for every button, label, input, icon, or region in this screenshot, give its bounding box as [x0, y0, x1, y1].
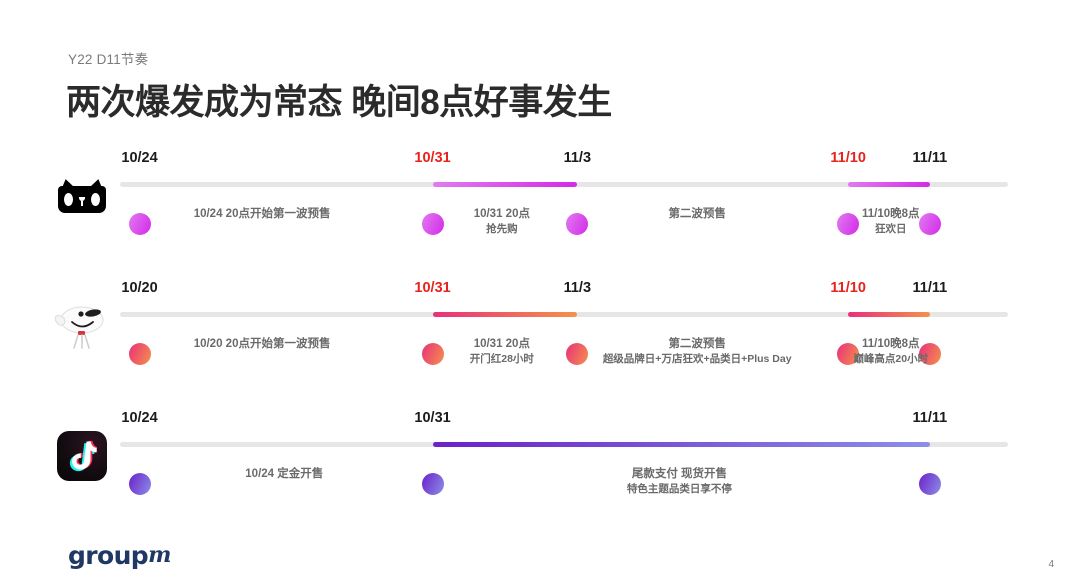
timeline-segment: [848, 182, 930, 187]
timeline-caption: 10/24 定金开售: [245, 466, 323, 482]
timeline-track-jd: [120, 312, 1008, 317]
timeline-date-label: 11/3: [564, 150, 591, 166]
timeline-dot[interactable]: [919, 213, 941, 235]
slide-root: Y22 D11节奏 两次爆发成为常态 晚间8点好事发生 10/2410/3111…: [0, 0, 1080, 582]
platform-logo-tmall: [44, 162, 120, 230]
timeline-dot[interactable]: [422, 343, 444, 365]
timeline-dot[interactable]: [919, 473, 941, 495]
timeline-date-label: 11/3: [564, 280, 591, 296]
timeline-caption: 11/10晚8点狂欢日: [862, 206, 920, 237]
timeline-dot[interactable]: [129, 473, 151, 495]
timeline-date-label: 11/11: [913, 150, 948, 166]
timeline-date-label: 11/10: [830, 280, 866, 296]
timeline-caption: 第二波预售超级品牌日+万店狂欢+品类日+Plus Day: [603, 336, 792, 367]
timeline-date-label: 10/31: [414, 280, 450, 296]
timeline-dot[interactable]: [129, 213, 151, 235]
timeline-dot[interactable]: [837, 213, 859, 235]
timeline-date-label: 10/24: [121, 150, 157, 166]
platform-logo-jd: [44, 292, 120, 360]
timeline-caption: 10/31 20点开门红28小时: [470, 336, 534, 367]
groupm-logo: groupm: [68, 541, 171, 570]
slide-kicker: Y22 D11节奏: [68, 48, 148, 68]
timeline-row-tmall: 10/2410/3111/311/1011/1110/24 20点开始第一波预售…: [0, 140, 1080, 270]
timeline-dot[interactable]: [422, 213, 444, 235]
timeline-date-label: 10/31: [414, 150, 450, 166]
timeline-date-label: 11/11: [913, 280, 948, 296]
timeline-dot[interactable]: [129, 343, 151, 365]
timeline-date-label: 10/31: [414, 410, 450, 426]
tiktok-icon: [57, 431, 107, 481]
timeline-segment: [848, 312, 930, 317]
groupm-logo-mark: m: [148, 542, 171, 568]
timeline-caption: 10/24 20点开始第一波预售: [194, 206, 331, 222]
timeline-segment: [433, 182, 578, 187]
timeline-caption: 10/31 20点抢先购: [474, 206, 530, 237]
page-title: 两次爆发成为常态 晚间8点好事发生: [66, 74, 612, 125]
page-number: 4: [1048, 559, 1054, 570]
timeline-date-label: 10/24: [121, 410, 157, 426]
timeline-row-douyin: 10/2410/3111/1110/24 定金开售尾款支付 现货开售特色主题品类…: [0, 400, 1080, 530]
jd-dog-icon: [52, 298, 112, 354]
tmall-cat-icon: [58, 179, 106, 213]
timeline-caption: 尾款支付 现货开售特色主题品类日享不停: [627, 466, 732, 497]
timeline-dot[interactable]: [566, 213, 588, 235]
timeline-segment: [433, 442, 930, 447]
timeline-segment: [433, 312, 578, 317]
timeline-track-tmall: [120, 182, 1008, 187]
timeline-dot[interactable]: [566, 343, 588, 365]
timeline-date-label: 11/10: [830, 150, 866, 166]
timeline-date-label: 11/11: [913, 410, 948, 426]
timeline-caption: 第二波预售: [668, 206, 726, 222]
timeline-date-label: 10/20: [121, 280, 157, 296]
groupm-logo-text: group: [68, 541, 148, 570]
timeline-dot[interactable]: [422, 473, 444, 495]
timeline-caption: 11/10晚8点巅峰高点20小时: [853, 336, 928, 367]
timeline-caption: 10/20 20点开始第一波预售: [194, 336, 331, 352]
platform-logo-douyin: [44, 422, 120, 490]
timeline-track-douyin: [120, 442, 1008, 447]
timeline-row-jd: 10/2010/3111/311/1011/1110/20 20点开始第一波预售…: [0, 270, 1080, 400]
